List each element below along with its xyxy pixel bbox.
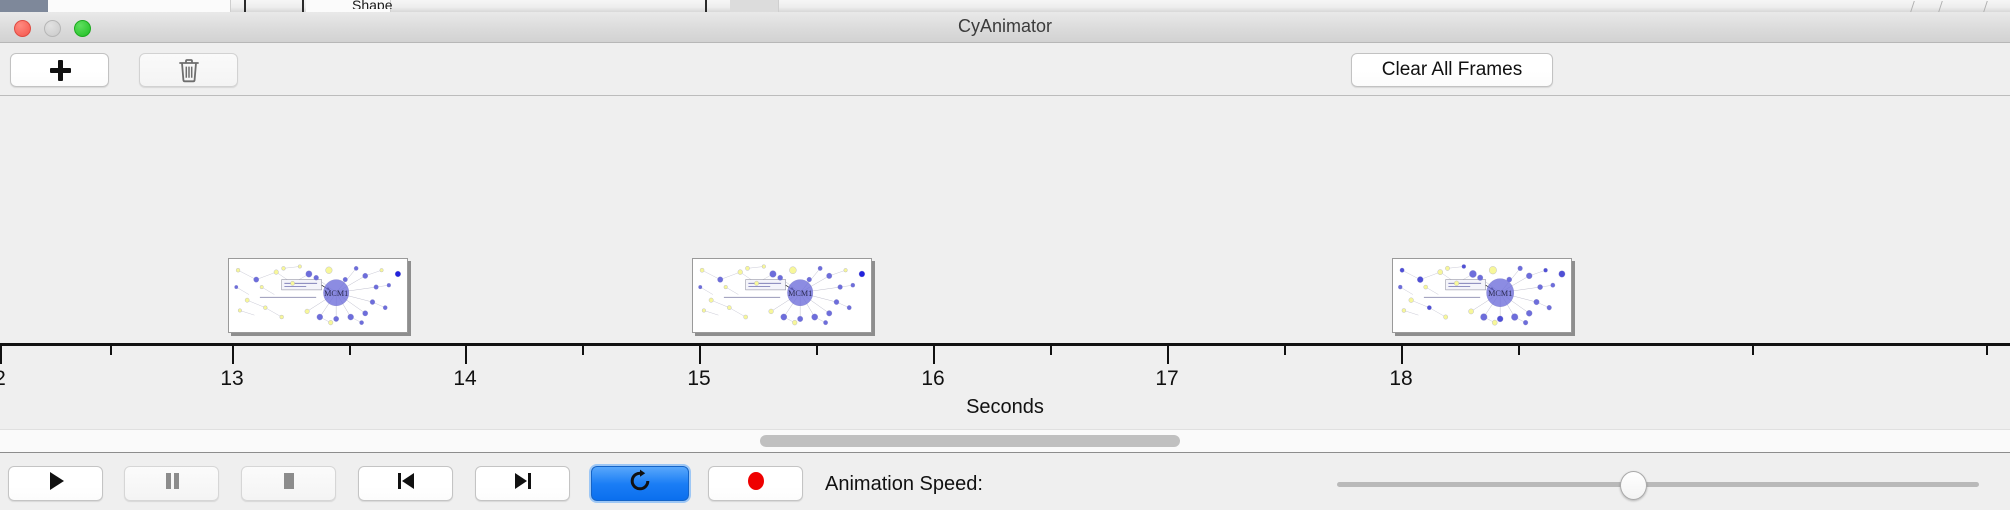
background-window-segment xyxy=(730,0,779,12)
background-window-segment xyxy=(190,0,231,12)
background-window-sidebar xyxy=(0,0,48,12)
ruler-tick-minor xyxy=(816,346,818,355)
background-window-mark xyxy=(705,0,707,12)
ruler-tick-label: 18 xyxy=(1389,367,1412,391)
ruler-tick-label: 2 xyxy=(0,367,6,391)
play-button[interactable] xyxy=(8,466,103,501)
title-bar: CyAnimator xyxy=(0,12,2010,43)
ruler-tick-minor xyxy=(1284,346,1286,355)
timeline-frame[interactable]: MCM1 xyxy=(228,258,408,333)
ruler-tick-major xyxy=(0,346,2,364)
svg-text:MCM1: MCM1 xyxy=(324,289,348,298)
ruler-tick-major xyxy=(1167,346,1169,364)
background-window-label: Shape xyxy=(352,0,392,9)
background-window-mark xyxy=(302,0,304,12)
svg-text:MCM1: MCM1 xyxy=(788,289,812,298)
clear-all-frames-button[interactable]: Clear All Frames xyxy=(1351,53,1553,87)
skip-forward-button[interactable] xyxy=(475,466,570,501)
background-window-segment xyxy=(48,0,149,12)
timeline-frame[interactable]: MCM1 xyxy=(1392,258,1572,333)
ruler-tick-minor xyxy=(1050,346,1052,355)
ruler-tick-major xyxy=(465,346,467,364)
toolbar: Clear All Frames xyxy=(0,43,2010,96)
window-title: CyAnimator xyxy=(0,16,2010,37)
ruler-tick-minor xyxy=(349,346,351,355)
timeline-frame[interactable]: MCM1 xyxy=(692,258,872,333)
svg-text:MCM1: MCM1 xyxy=(1488,289,1512,298)
skip-forward-icon xyxy=(511,470,535,497)
background-window-mark xyxy=(1983,1,1988,12)
animation-speed-label: Animation Speed: xyxy=(825,473,983,496)
background-window-mark xyxy=(1910,1,1915,12)
play-icon xyxy=(45,470,67,497)
background-window-mark xyxy=(1938,1,1943,12)
timeline-panel[interactable]: MCM1 MCM1 MCM1 Seconds 2131415161718 xyxy=(0,96,2010,429)
horizontal-scrollbar[interactable] xyxy=(0,429,2010,453)
plus-icon xyxy=(49,59,71,81)
ruler-tick-label: 14 xyxy=(453,367,476,391)
stop-button xyxy=(241,466,336,501)
animation-speed-knob[interactable] xyxy=(1620,471,1647,500)
background-window-mark xyxy=(244,0,246,12)
ruler-tick-minor xyxy=(110,346,112,355)
stop-icon xyxy=(278,470,300,497)
ruler-tick-major xyxy=(933,346,935,364)
playback-toolbar: Animation Speed: xyxy=(0,453,2010,510)
frame-track[interactable]: MCM1 MCM1 MCM1 xyxy=(0,96,2010,343)
ruler-tick-major xyxy=(699,346,701,364)
loop-icon xyxy=(628,469,652,498)
background-window-segment xyxy=(148,0,191,12)
ruler-tick-label: 16 xyxy=(921,367,944,391)
skip-back-button[interactable] xyxy=(358,466,453,501)
ruler-tick-minor xyxy=(1986,346,1988,355)
ruler-tick-major xyxy=(1401,346,1403,364)
pause-button xyxy=(124,466,219,501)
record-icon xyxy=(744,469,768,498)
scrollbar-thumb[interactable] xyxy=(760,435,1180,447)
ruler-tick-minor xyxy=(1752,346,1754,355)
ruler-tick-label: 15 xyxy=(687,367,710,391)
clear-all-frames-label: Clear All Frames xyxy=(1382,59,1522,81)
ruler-baseline xyxy=(0,343,2010,346)
loop-button[interactable] xyxy=(591,466,689,501)
ruler-tick-minor xyxy=(1518,346,1520,355)
time-ruler: Seconds 2131415161718 xyxy=(0,343,2010,429)
ruler-tick-minor xyxy=(582,346,584,355)
delete-frame-button[interactable] xyxy=(139,53,238,87)
pause-icon xyxy=(161,470,183,497)
trash-icon xyxy=(178,58,200,83)
animation-speed-slider[interactable] xyxy=(1337,482,1979,487)
skip-back-icon xyxy=(394,470,418,497)
record-button[interactable] xyxy=(708,466,803,501)
cyanimator-window: CyAnimator Clear All Frames xyxy=(0,12,2010,510)
ruler-tick-major xyxy=(232,346,234,364)
add-frame-button[interactable] xyxy=(10,53,109,87)
ruler-tick-label: 17 xyxy=(1155,367,1178,391)
axis-title: Seconds xyxy=(0,396,2010,419)
ruler-tick-label: 13 xyxy=(220,367,243,391)
